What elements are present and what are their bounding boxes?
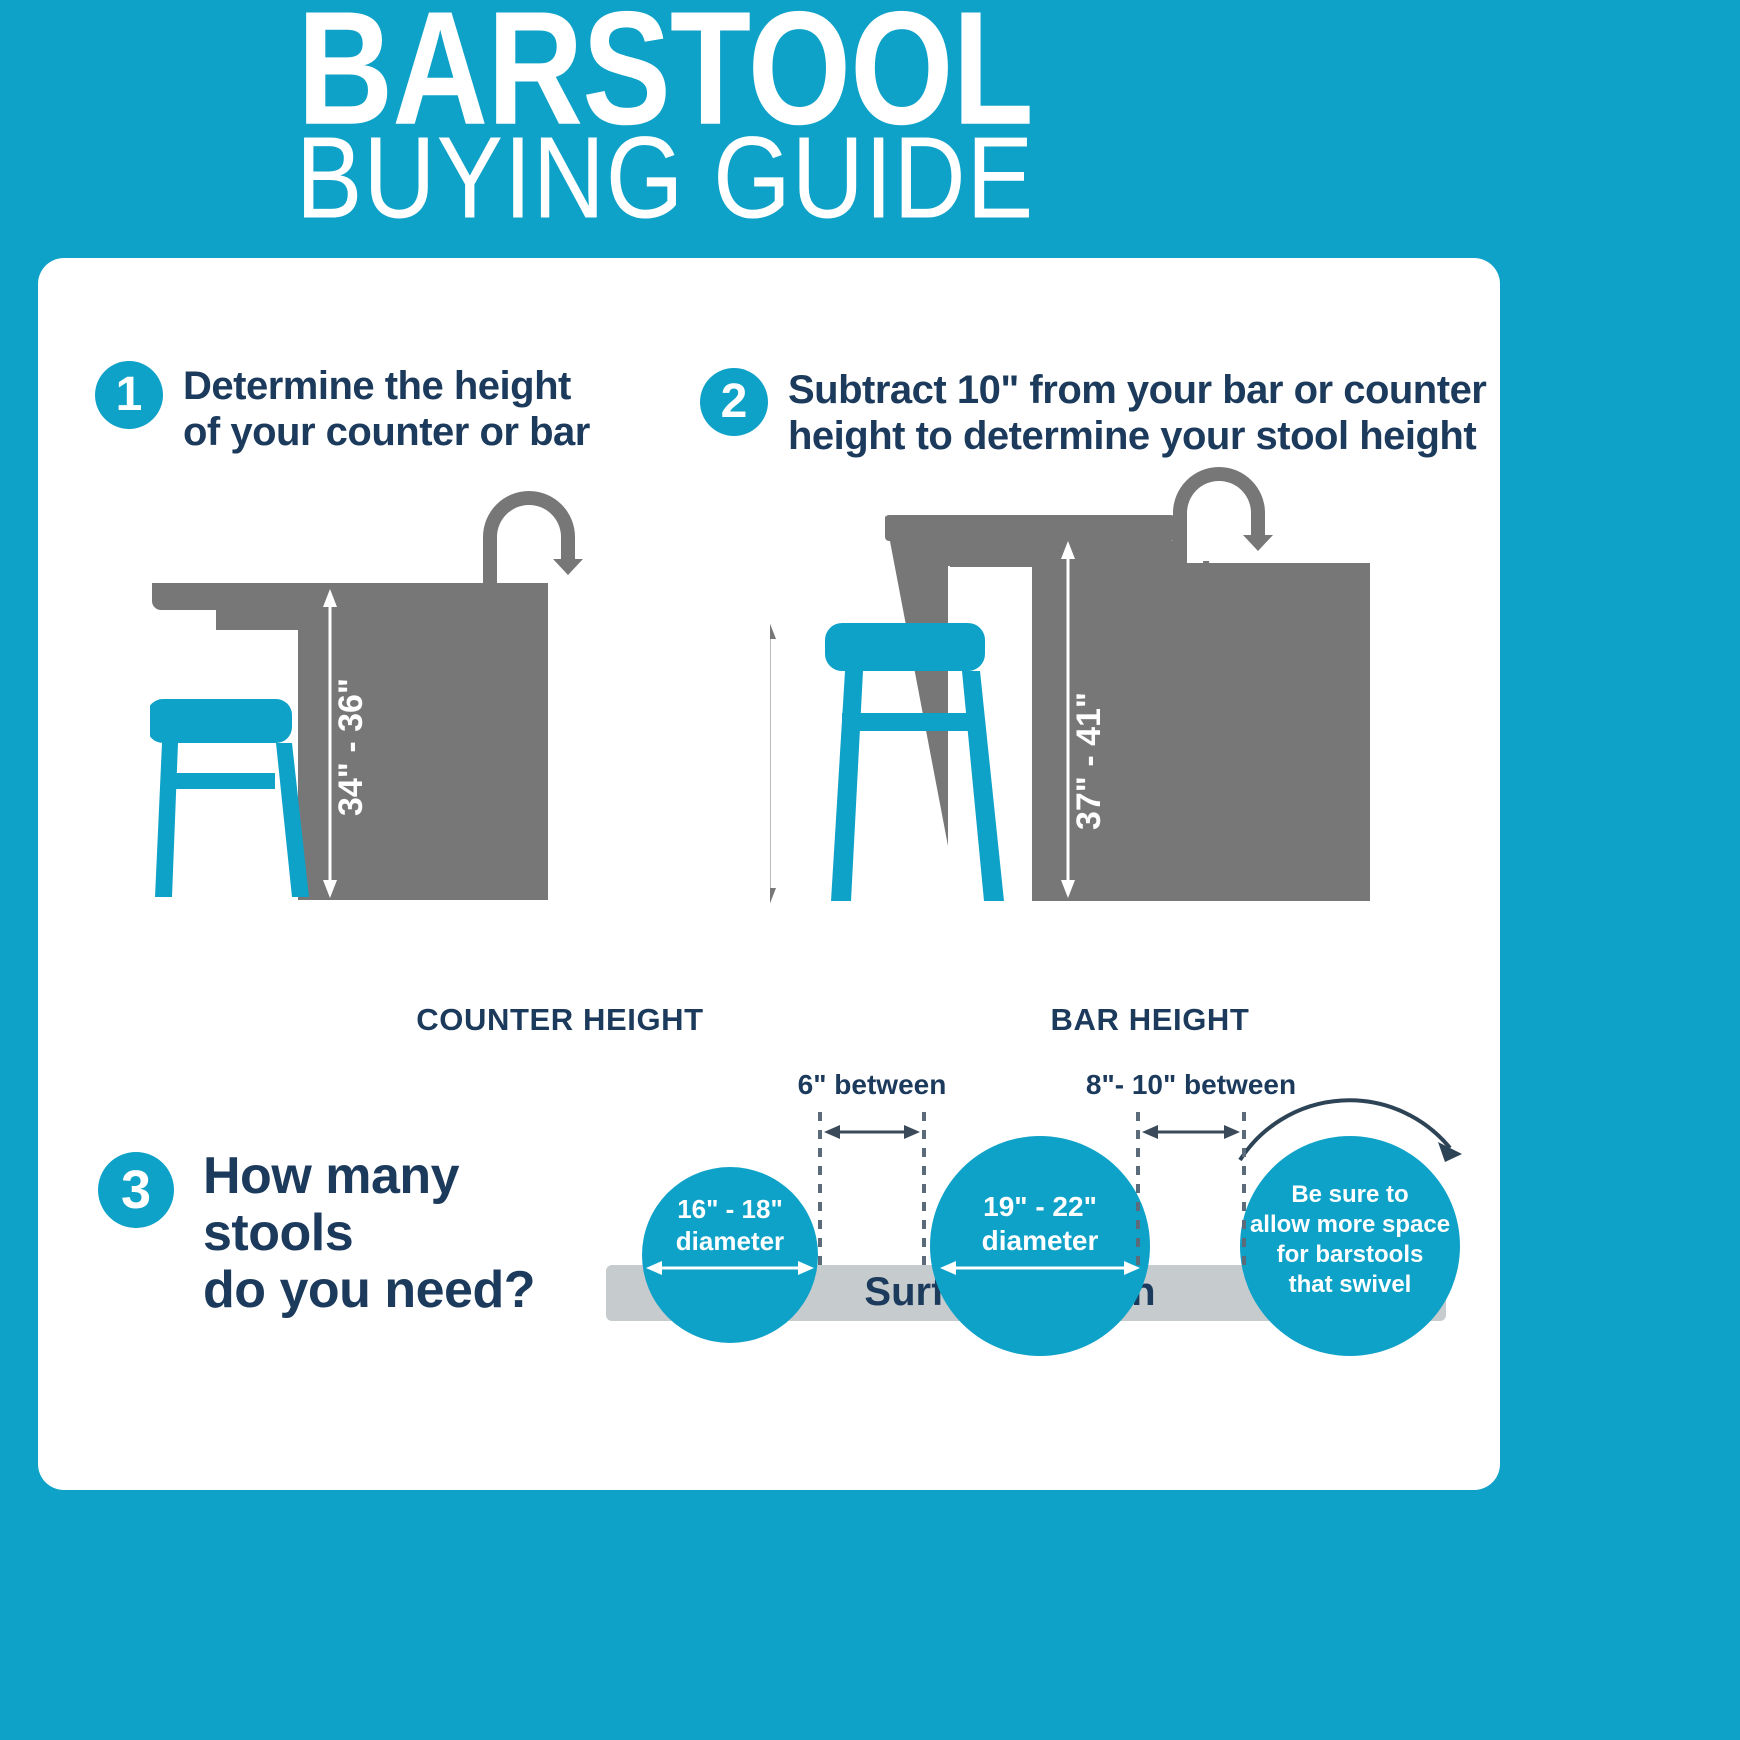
swivel-note-line1: Be sure to: [1291, 1181, 1408, 1208]
swivel-note-line3: for barstools: [1277, 1241, 1424, 1268]
arrow-head-right: [904, 1125, 920, 1139]
bar-height-label: 37" - 41": [1070, 692, 1108, 830]
step-2-title: Subtract 10" from your bar or counter he…: [788, 368, 1528, 459]
bar-height-caption: BAR HEIGHT: [930, 1002, 1370, 1038]
gap-2-label: 8"- 10" between: [1086, 1069, 1296, 1100]
page-subtitle: BUYING GUIDE: [27, 120, 1304, 236]
step-1-badge: 1: [95, 361, 163, 429]
page-header: BARSTOOL BUYING GUIDE: [0, 0, 1740, 252]
step-2-title-line2: height to determine your stool height: [788, 414, 1528, 460]
stool-1-unit-label: diameter: [676, 1226, 784, 1256]
step-1-title-line1: Determine the height: [183, 364, 653, 410]
arrow-head-right: [1224, 1125, 1240, 1139]
arrow-head-left: [824, 1125, 840, 1139]
swivel-note-line2: allow more space: [1250, 1211, 1450, 1238]
stool-2-size-label: 19" - 22": [983, 1191, 1097, 1222]
counter-height-caption: COUNTER HEIGHT: [340, 1002, 780, 1038]
stool-shape: [825, 623, 1004, 901]
step-3-title-line2: do you need?: [203, 1262, 623, 1319]
swivel-note-line4: that swivel: [1289, 1271, 1412, 1298]
step-1-title: Determine the height of your counter or …: [183, 364, 653, 455]
arrow-head-left: [1142, 1125, 1158, 1139]
arrow-head-up: [770, 621, 776, 639]
counter-height-label: 34" - 36": [332, 678, 370, 816]
step-3-title: How many stools do you need?: [203, 1148, 623, 1320]
stool-2-unit-label: diameter: [982, 1225, 1099, 1256]
stool-1-size-label: 16" - 18": [677, 1194, 783, 1224]
step-2-title-line1: Subtract 10" from your bar or counter: [788, 368, 1528, 414]
step-3-title-line1: How many stools: [203, 1148, 623, 1262]
bar-counter-body: [885, 515, 1370, 901]
step-3-badge: 3: [98, 1152, 174, 1228]
step-2-badge: 2: [700, 368, 768, 436]
step-1-title-line2: of your counter or bar: [183, 410, 653, 456]
bar-height-diagram: 27" - 31" 37" - 41": [770, 455, 1370, 965]
counter-height-diagram: 24" - 26" 34" - 36": [150, 455, 750, 965]
arrow-head-down: [770, 888, 776, 906]
stool-shape: [150, 699, 309, 897]
stool-spacing-diagram: Surface Length 16" - 18" diameter 19" - …: [590, 1050, 1470, 1370]
gap-1-label: 6" between: [798, 1069, 947, 1100]
